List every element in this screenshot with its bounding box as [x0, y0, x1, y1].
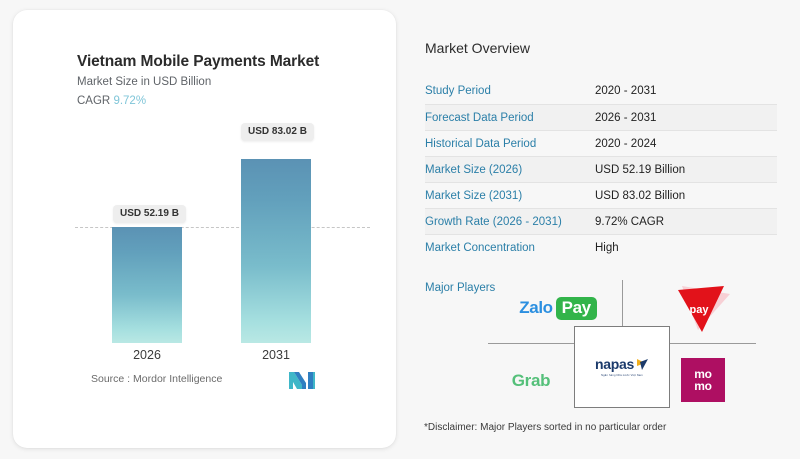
- logo-viettelpay: pay: [652, 280, 756, 336]
- market-overview-panel: Market Overview Study Period 2020 - 2031…: [425, 40, 777, 260]
- bar-value-label-2026: USD 52.19 B: [113, 205, 186, 223]
- row-label: Growth Rate (2026 - 2031): [425, 216, 595, 228]
- category-label-2031: 2031: [231, 348, 321, 362]
- row-value: USD 52.19 Billion: [595, 164, 685, 176]
- bar-value-label-2031: USD 83.02 B: [241, 123, 314, 141]
- connector-line-horizontal: [670, 343, 756, 344]
- cagr-line: CAGR 9.72%: [77, 95, 146, 107]
- logo-napas: napas Ngân hàng Nhà nước Việt Nam: [574, 342, 670, 390]
- row-value: 9.72% CAGR: [595, 216, 664, 228]
- bar-2026: [112, 227, 182, 343]
- grab-text: Grab: [512, 371, 550, 391]
- table-row: Study Period 2020 - 2031: [425, 78, 777, 104]
- cagr-label: CAGR: [77, 95, 110, 107]
- momo-square: mo mo: [681, 358, 725, 402]
- major-players-label: Major Players: [425, 282, 495, 294]
- connector-line-horizontal: [488, 343, 574, 344]
- row-value: USD 83.02 Billion: [595, 190, 685, 202]
- row-label: Market Concentration: [425, 242, 595, 254]
- major-players-grid: ZaloPay pay Grab napas Ngân hàng Nhà nướ…: [488, 280, 756, 408]
- napas-text: napas: [595, 356, 634, 372]
- table-row: Growth Rate (2026 - 2031) 9.72% CAGR: [425, 208, 777, 234]
- row-label: Study Period: [425, 85, 595, 97]
- row-value: 2026 - 2031: [595, 112, 656, 124]
- table-row: Market Concentration High: [425, 234, 777, 260]
- row-label: Market Size (2026): [425, 164, 595, 176]
- row-label: Forecast Data Period: [425, 112, 595, 124]
- zalopay-text-primary: Zalo: [519, 298, 552, 318]
- logo-momo: mo mo: [680, 358, 726, 402]
- chart-card: Vietnam Mobile Payments Market Market Si…: [13, 10, 396, 448]
- logo-grab: Grab: [488, 364, 574, 398]
- table-row: Forecast Data Period 2026 - 2031: [425, 104, 777, 130]
- connector-line-vertical: [622, 280, 623, 326]
- screenshot-root: Vietnam Mobile Payments Market Market Si…: [0, 0, 800, 459]
- row-value: 2020 - 2031: [595, 85, 656, 97]
- bar-2031: [241, 159, 311, 343]
- mordor-intelligence-logo: [289, 372, 315, 394]
- momo-text-secondary: mo: [694, 380, 711, 392]
- zalopay-text-secondary: Pay: [556, 297, 597, 320]
- cagr-value: 9.72%: [113, 95, 146, 107]
- category-label-2026: 2026: [102, 348, 192, 362]
- overview-title: Market Overview: [425, 40, 777, 56]
- svg-text:pay: pay: [690, 304, 710, 316]
- table-row: Market Size (2031) USD 83.02 Billion: [425, 182, 777, 208]
- disclaimer-text: *Disclaimer: Major Players sorted in no …: [424, 422, 666, 433]
- chart-subtitle: Market Size in USD Billion: [77, 76, 211, 88]
- napas-tagline: Ngân hàng Nhà nước Việt Nam: [601, 374, 643, 377]
- table-row: Historical Data Period 2020 - 2024: [425, 130, 777, 156]
- logo-zalopay: ZaloPay: [502, 292, 614, 324]
- row-value: 2020 - 2024: [595, 138, 656, 150]
- row-label: Historical Data Period: [425, 138, 595, 150]
- row-label: Market Size (2031): [425, 190, 595, 202]
- row-value: High: [595, 242, 619, 254]
- table-row: Market Size (2026) USD 52.19 Billion: [425, 156, 777, 182]
- source-text: Source : Mordor Intelligence: [91, 373, 222, 385]
- bar-chart-plot: USD 52.19 B 2026 USD 83.02 B 2031: [13, 120, 396, 365]
- page-title: Vietnam Mobile Payments Market: [77, 53, 319, 71]
